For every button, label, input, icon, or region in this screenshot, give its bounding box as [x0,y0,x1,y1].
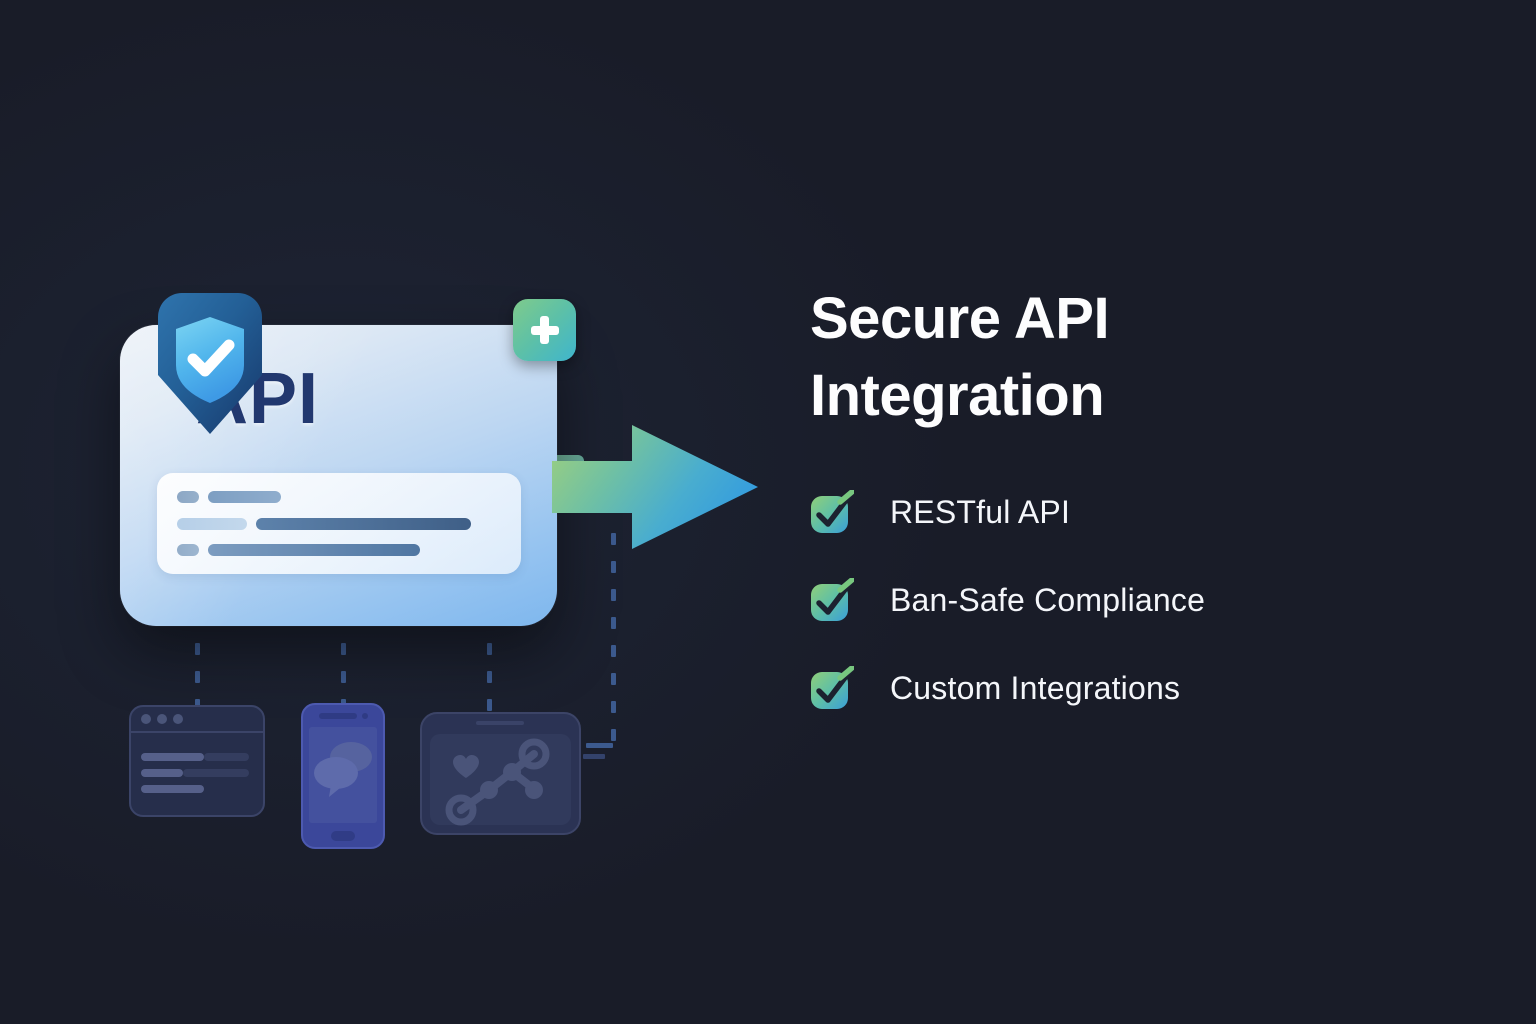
list-item[interactable]: RESTful API [810,490,1430,534]
connector-line-panel [487,643,492,699]
phone-chat-icon [301,703,385,849]
connector-line-arrow-return [611,533,616,748]
feature-list: RESTful API Ban-Safe Compliance [810,490,1430,710]
api-illustration: API [0,0,780,1024]
analytics-network-icon [420,712,581,835]
connector-elbow [586,743,613,748]
check-icon [810,666,854,710]
page-title: Secure API Integration [810,281,1430,434]
browser-window-icon [129,705,265,817]
plus-badge-icon [513,299,576,361]
code-row [177,544,501,556]
api-code-block [157,473,521,574]
check-icon [810,578,854,622]
list-item[interactable]: Ban-Safe Compliance [810,578,1430,622]
connector-line-browser [195,643,200,699]
feature-label: Ban-Safe Compliance [890,582,1205,619]
illustration-canvas: API [0,0,1536,1024]
code-bar [208,544,420,556]
plus-icon [531,316,559,344]
code-row [177,491,501,503]
arrow-right-icon [552,425,758,549]
code-row [177,518,501,530]
code-bar [208,491,281,503]
check-icon [810,490,854,534]
connector-dash-right-edge [583,754,605,759]
code-bar [256,518,471,530]
connector-line-phone [341,643,346,699]
list-item[interactable]: Custom Integrations [810,666,1430,710]
feature-label: RESTful API [890,494,1070,531]
feature-label: Custom Integrations [890,670,1180,707]
code-bar [177,491,199,503]
content-panel: Secure API Integration [810,281,1430,754]
shield-check-icon [158,293,262,434]
code-bar [177,518,247,530]
code-bar [177,544,199,556]
